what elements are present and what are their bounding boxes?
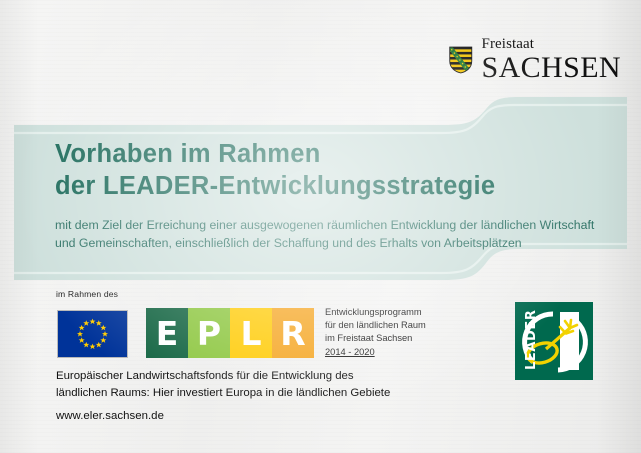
eplr-letter-e: E xyxy=(146,308,188,358)
leader-logo-icon: LEADER xyxy=(513,300,595,382)
poster-page: Freistaat SACHSEN Vorhaben im Rahmen der… xyxy=(0,0,641,453)
banner-title-line-2: der LEADER-Entwicklungsstrategie xyxy=(55,171,601,203)
eplr-letter-r: R xyxy=(272,308,314,358)
eplr-caption-line-1: Entwicklungsprogramm xyxy=(325,306,500,319)
sachsen-freistaat-label: Freistaat xyxy=(482,37,622,52)
banner-subtitle-line-1: mit dem Ziel der Erreichung einer ausgew… xyxy=(55,217,601,235)
eplr-caption: Entwicklungsprogramm für den ländlichen … xyxy=(325,306,500,359)
banner-subtitle-block: mit dem Ziel der Erreichung einer ausgew… xyxy=(55,217,601,253)
eplr-caption-line-2: für den ländlichen Raum xyxy=(325,319,500,332)
banner-text-block: Vorhaben im Rahmen der LEADER-Entwicklun… xyxy=(55,139,601,253)
eplr-letter-p: P xyxy=(188,308,230,358)
eplr-caption-line-3: im Freistaat Sachsen xyxy=(325,332,500,345)
eler-statement: Europäischer Landwirtschaftsfonds für di… xyxy=(56,368,476,403)
banner-subtitle-line-2: und Gemeinschaften, einschließlich der S… xyxy=(55,235,601,253)
sachsen-name-label: SACHSEN xyxy=(482,53,622,83)
eplr-letter-l: L xyxy=(230,308,272,358)
eplr-logo: E P L R xyxy=(146,308,314,358)
freistaat-sachsen-logo: Freistaat SACHSEN xyxy=(449,30,621,90)
european-union-flag-icon xyxy=(57,310,128,358)
eplr-caption-period: 2014 - 2020 xyxy=(325,346,500,359)
eler-statement-line-1: Europäischer Landwirtschaftsfonds für di… xyxy=(56,368,476,385)
banner-panel: Vorhaben im Rahmen der LEADER-Entwicklun… xyxy=(14,97,627,283)
website-url: www.eler.sachsen.de xyxy=(56,410,164,422)
leader-vertical-label: LEADER xyxy=(524,309,539,370)
saxony-coat-of-arms-icon xyxy=(449,32,473,88)
banner-title-line-1: Vorhaben im Rahmen xyxy=(55,139,601,171)
eler-statement-line-2: ländlichen Raums: Hier investiert Europa… xyxy=(56,385,476,402)
sachsen-wordmark: Freistaat SACHSEN xyxy=(482,37,622,83)
funding-intro-label: im Rahmen des xyxy=(56,289,118,299)
